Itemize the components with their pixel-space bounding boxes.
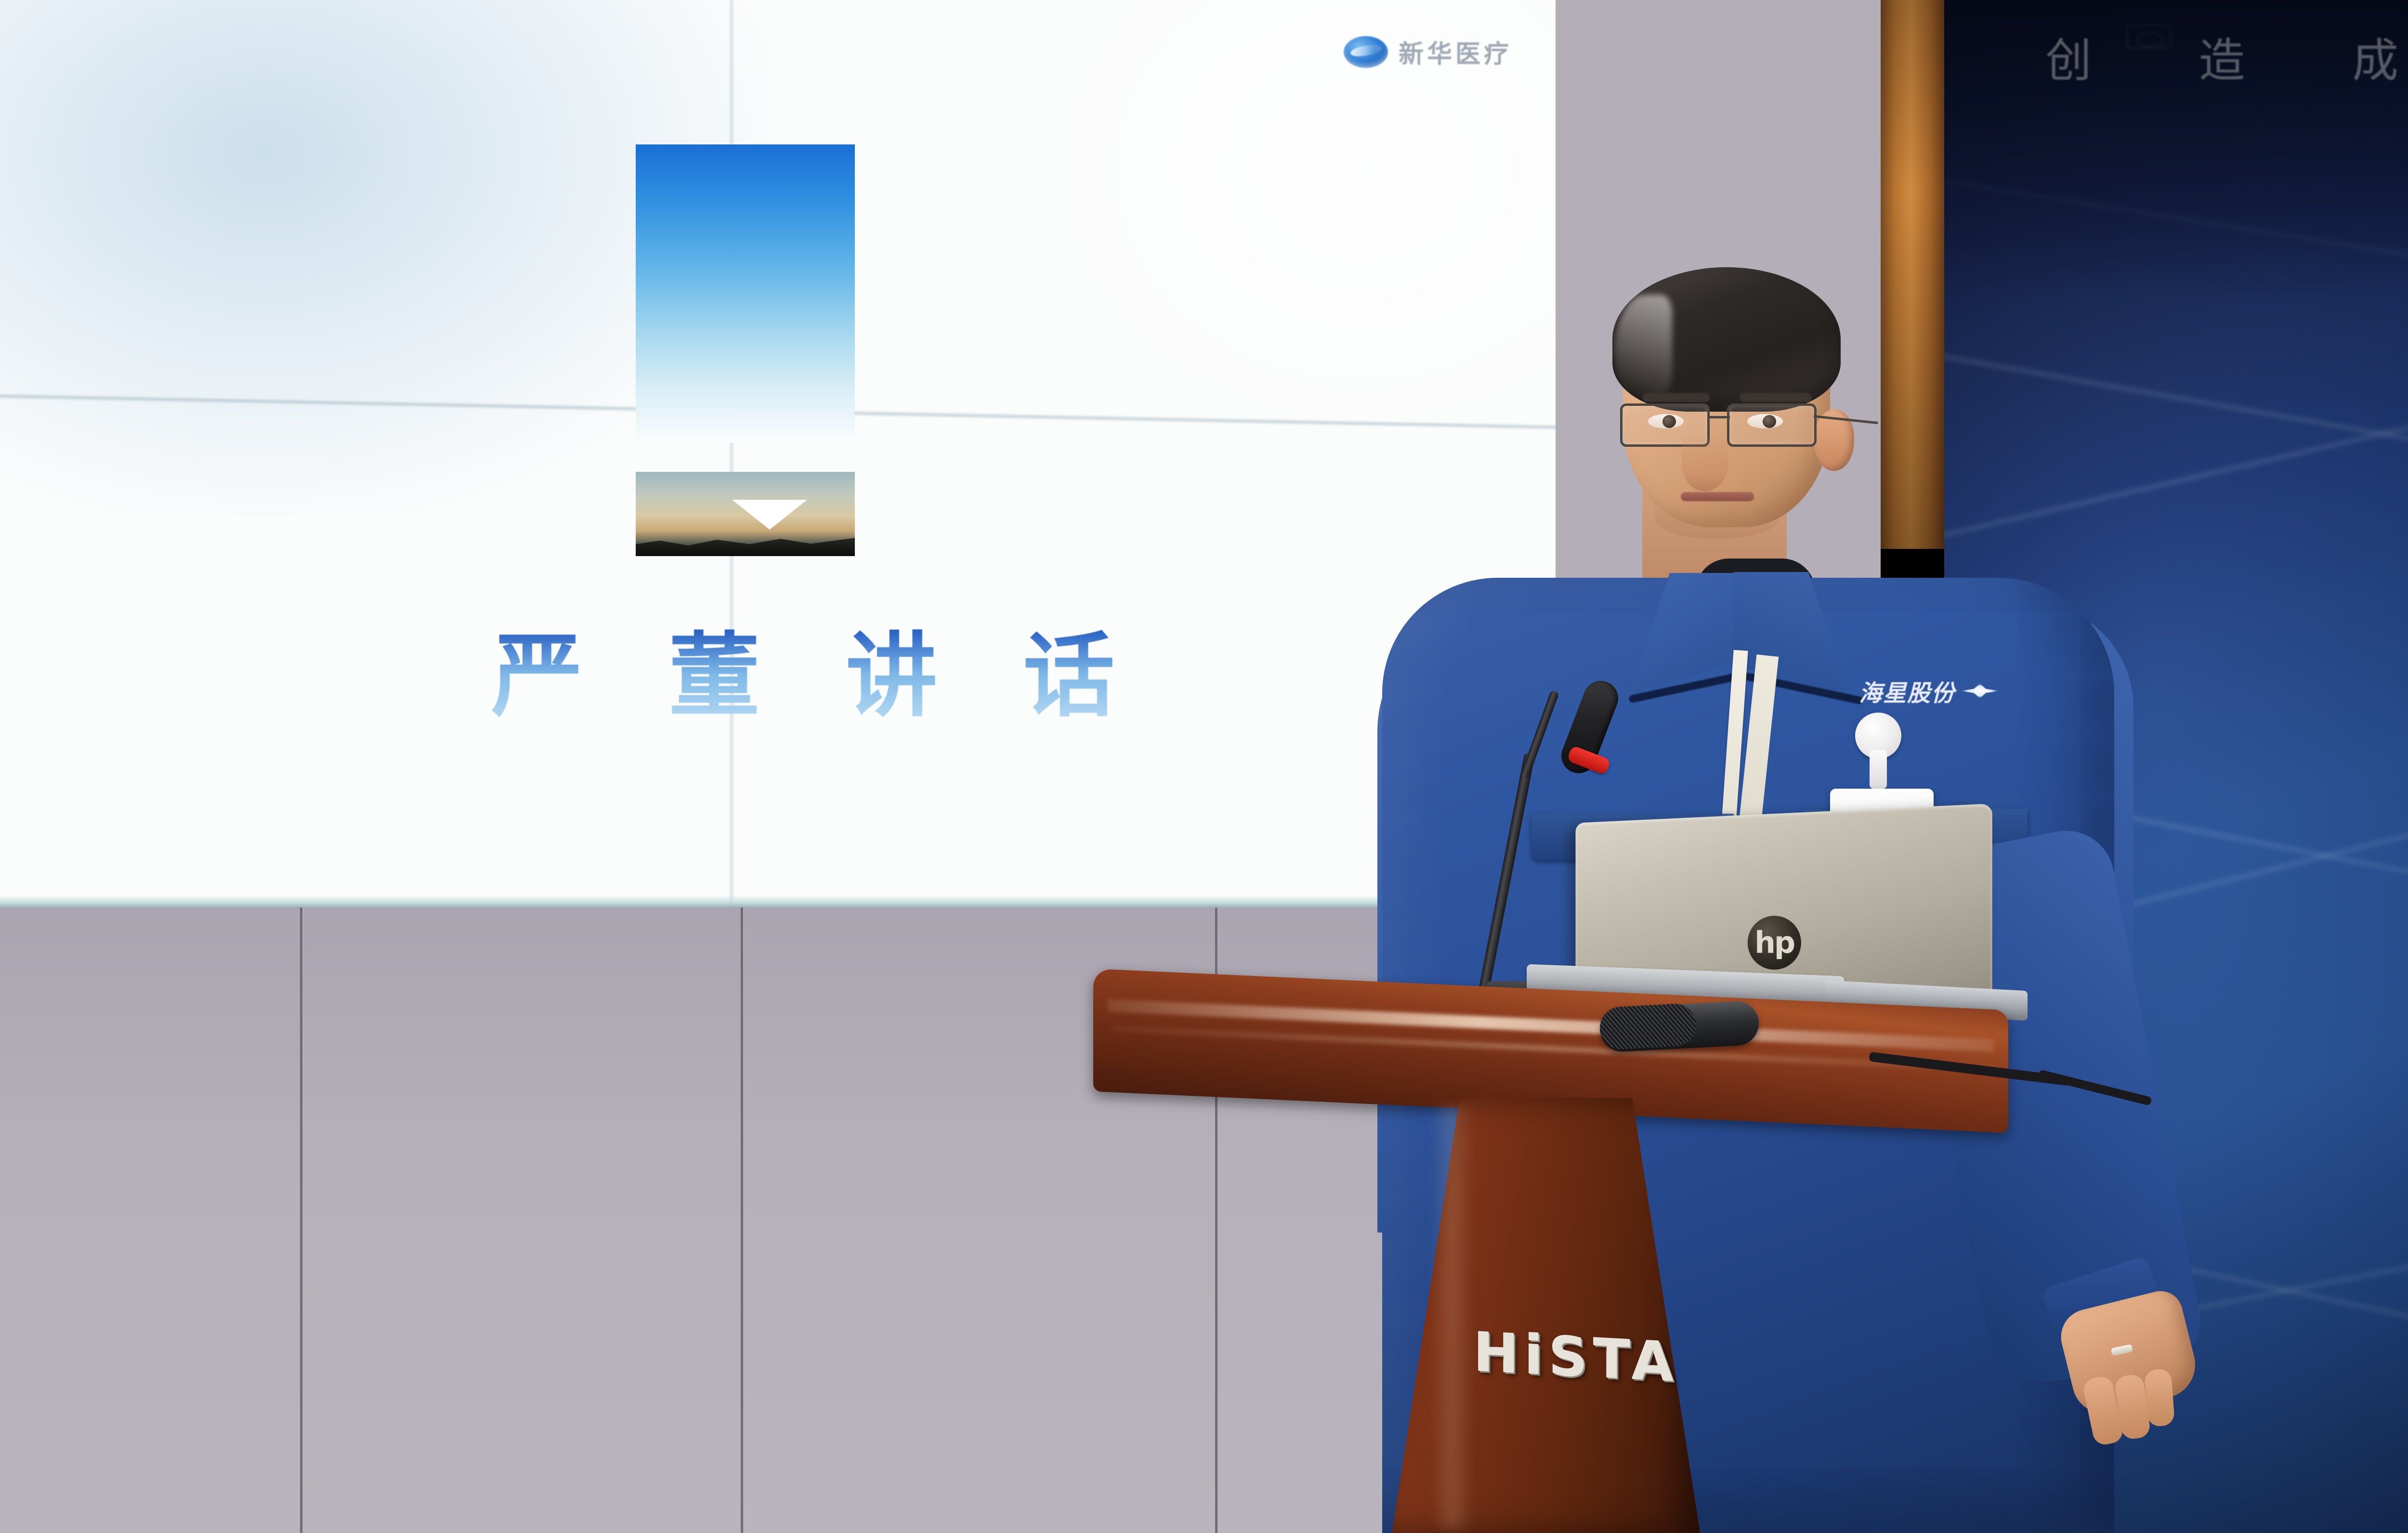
white-down-triangle-icon: [732, 500, 807, 530]
blue-swoosh-logo-icon: [1344, 36, 1388, 68]
slide-corner-logo: 新华医疗: [1344, 34, 1512, 70]
slide-sky-gradient: [636, 144, 855, 443]
wall-seam: [741, 896, 743, 1533]
slide-artwork: [636, 144, 855, 556]
eyebrow-left: [1642, 393, 1710, 402]
jacket-chest-logo: 海星股份: [1859, 674, 1999, 708]
nose: [1682, 433, 1728, 491]
projection-screen: 严 董 讲 话 新华医疗: [0, 0, 1556, 908]
lens-right: [1727, 403, 1817, 447]
hp-logo-text: hp: [1754, 928, 1794, 958]
wall-seam: [300, 896, 302, 1533]
eyeglasses: [1617, 403, 1844, 450]
screen-bottom-edge: [0, 895, 1556, 908]
handheld-microphone-grille: [1599, 1003, 1697, 1050]
jacket-chest-logo-text: 海星股份: [1859, 674, 1955, 708]
star-emblem-icon: [1961, 684, 1999, 698]
presentation-scene: 严 董 讲 话 新华医疗 创 造 成 就: [0, 0, 2408, 1533]
white-badge-clip: [1855, 713, 1901, 759]
lectern-column-highlight: [1430, 1105, 1474, 1529]
lectern: HiSTA: [1093, 989, 2008, 1533]
slide-logo-text: 新华医疗: [1399, 34, 1512, 70]
finger: [2144, 1368, 2175, 1427]
backdrop-headline: 创 造 成 就: [2045, 23, 2408, 90]
hp-logo-icon: hp: [1748, 916, 1801, 970]
wall-panel: [0, 896, 301, 1533]
wall-panel: [303, 896, 742, 1533]
chin: [1654, 496, 1780, 539]
glasses-bridge: [1710, 416, 1730, 418]
slide-title: 严 董 讲 话: [491, 602, 1141, 734]
lectern-brand-logo: HiSTA: [1474, 1321, 1679, 1394]
eyebrow-right: [1740, 393, 1812, 402]
